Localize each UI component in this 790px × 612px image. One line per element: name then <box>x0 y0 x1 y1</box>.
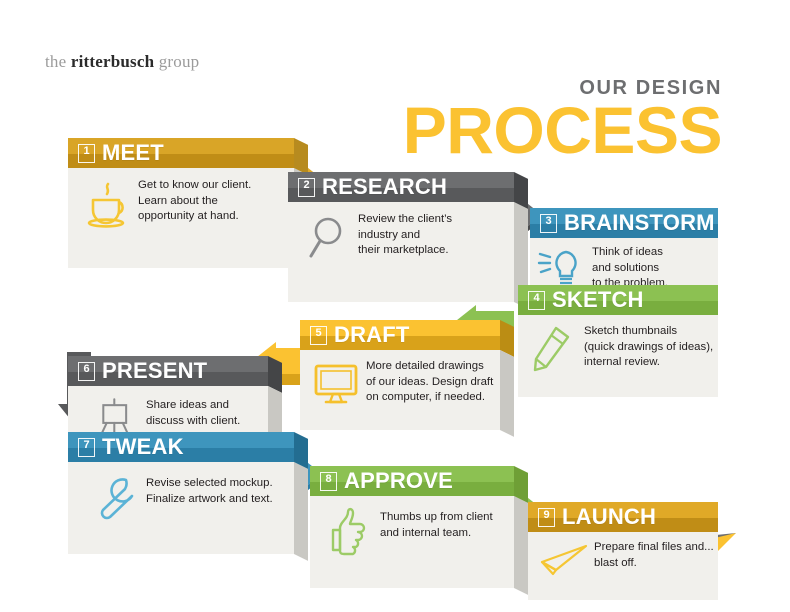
step-text-6: Share ideas and discuss with client. <box>146 398 260 429</box>
step-text-1: Get to know our client. Learn about the … <box>138 178 286 225</box>
step-body-7: Revise selected mockup. Finalize artwork… <box>68 462 294 554</box>
step-body-5: More detailed drawings of our ideas. Des… <box>300 350 500 430</box>
step-text-5: More detailed drawings of our ideas. Des… <box>366 359 492 406</box>
title-main: PROCESS <box>403 100 722 161</box>
step-number-2: 2 <box>298 178 315 197</box>
step-text-8: Thumbs up from client and internal team. <box>380 510 506 541</box>
step-header-4: 4 SKETCH <box>518 285 718 315</box>
step-number-6: 6 <box>78 362 95 381</box>
step-title-9: LAUNCH <box>562 506 656 528</box>
paper-plane-icon <box>538 540 594 580</box>
page-title: OUR DESIGN PROCESS <box>403 78 722 161</box>
step-body-4: Sketch thumbnails (quick drawings of ide… <box>518 315 718 397</box>
step-header-5: 5 DRAFT <box>300 320 500 350</box>
step-header-3: 3 BRAINSTORM <box>530 208 718 238</box>
step-number-4: 4 <box>528 291 545 310</box>
step-title-1: MEET <box>102 142 164 164</box>
step-number-1: 1 <box>78 144 95 163</box>
logo-prefix: the <box>45 52 71 71</box>
step-text-7: Revise selected mockup. Finalize artwork… <box>146 476 286 507</box>
step-text-4: Sketch thumbnails (quick drawings of ide… <box>584 324 710 371</box>
logo-name: ritterbusch <box>71 52 154 71</box>
step-header-6: 6 PRESENT <box>68 356 268 386</box>
thumbs-up-icon <box>322 504 374 556</box>
step-header-1: 1 MEET <box>68 138 294 168</box>
step-title-8: APPROVE <box>344 470 453 492</box>
step-header-8: 8 APPROVE <box>310 466 514 496</box>
step-title-7: TWEAK <box>102 436 184 458</box>
step-header-9: 9 LAUNCH <box>528 502 718 532</box>
step-number-9: 9 <box>538 508 555 527</box>
coffee-cup-icon <box>82 178 134 230</box>
step-body-9: Prepare final files and... blast off. <box>528 532 718 600</box>
step-body-2: Review the client’s industry and their m… <box>288 202 514 302</box>
step-number-3: 3 <box>540 214 557 233</box>
step-title-5: DRAFT <box>334 324 410 346</box>
step-title-4: SKETCH <box>552 289 644 311</box>
step-header-2: 2 RESEARCH <box>288 172 514 202</box>
pencil-icon <box>526 323 578 375</box>
company-logo: the ritterbusch group <box>45 52 199 72</box>
magnifying-glass-icon <box>302 212 354 264</box>
step-title-2: RESEARCH <box>322 176 447 198</box>
step-title-3: BRAINSTORM <box>564 212 715 234</box>
step-text-9: Prepare final files and... blast off. <box>594 540 710 571</box>
step-body-1: Get to know our client. Learn about the … <box>68 168 294 268</box>
step-number-7: 7 <box>78 438 95 457</box>
step-header-7: 7 TWEAK <box>68 432 294 462</box>
step-body-8: Thumbs up from client and internal team. <box>310 496 514 588</box>
infographic-canvas: the ritterbusch group OUR DESIGN PROCESS <box>0 0 790 612</box>
monitor-icon <box>310 358 362 410</box>
logo-suffix: group <box>154 52 199 71</box>
step-title-6: PRESENT <box>102 360 207 382</box>
wrench-icon <box>90 472 142 524</box>
step-text-2: Review the client’s industry and their m… <box>358 212 506 259</box>
step-number-8: 8 <box>320 472 337 491</box>
step-number-5: 5 <box>310 326 327 345</box>
